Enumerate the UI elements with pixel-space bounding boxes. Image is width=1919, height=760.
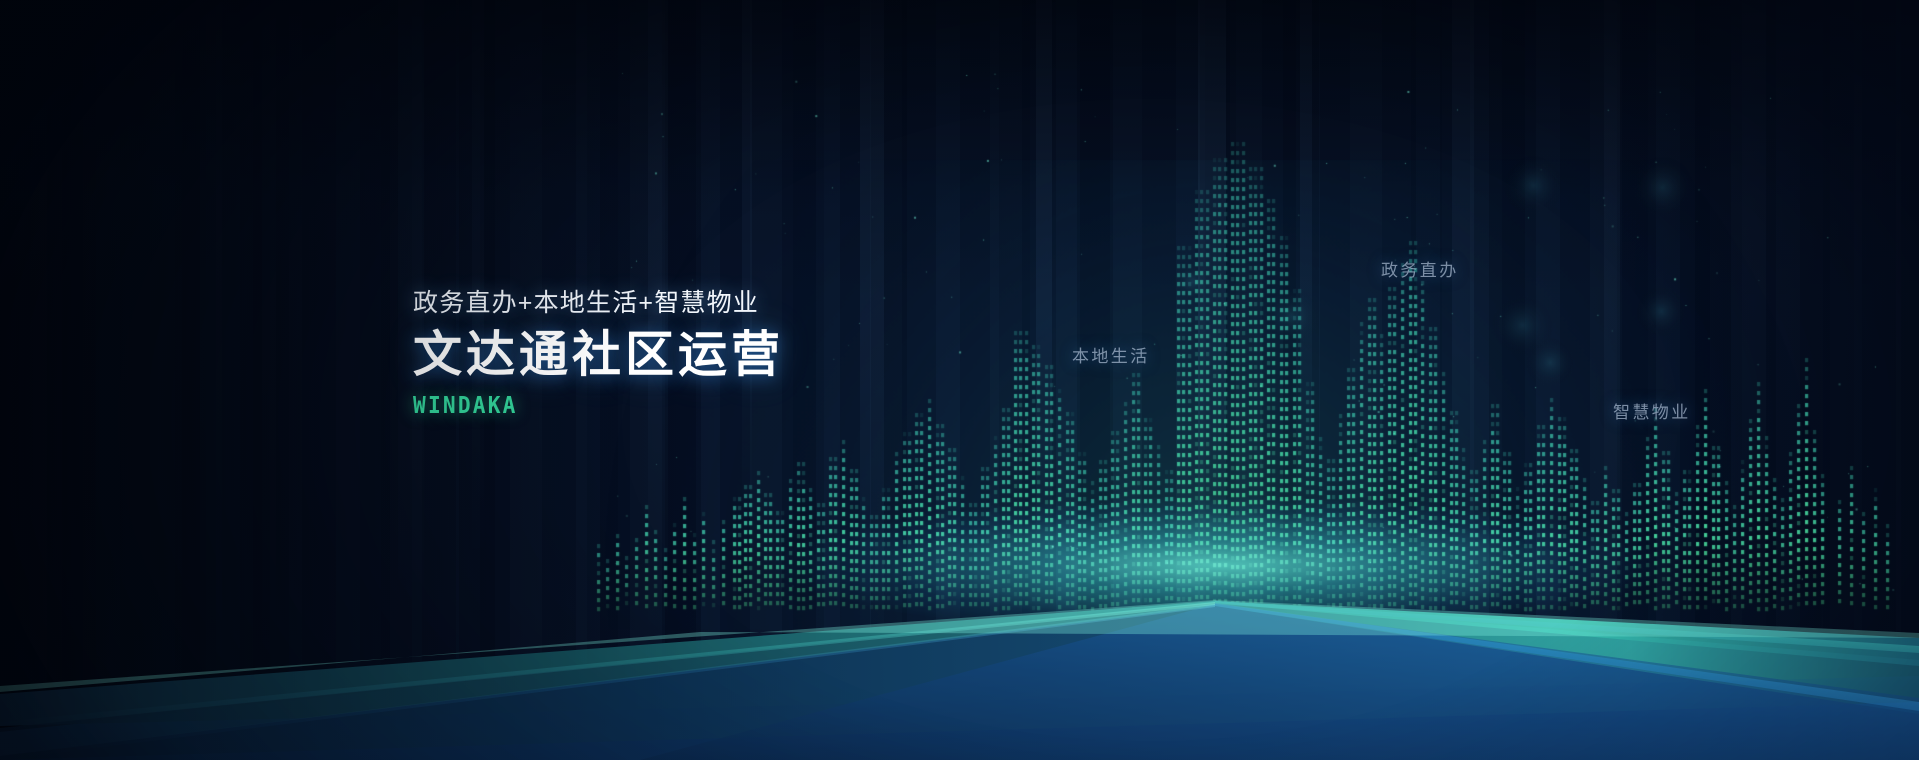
city-label-smart-property: 智慧物业 (1613, 398, 1691, 423)
hero-text-block: 政务直办+本地生活+智慧物业 文达通社区运营 WINDAKA (413, 288, 1113, 419)
hero-title: 文达通社区运营 (413, 327, 1113, 383)
perspective-ground (0, 470, 1919, 760)
hero-banner: 政务直办+本地生活+智慧物业 文达通社区运营 WINDAKA 政务直办 本地生活… (0, 0, 1919, 760)
city-label-local-life: 本地生活 (1072, 342, 1150, 367)
hero-subtitle: 政务直办+本地生活+智慧物业 (413, 288, 1113, 318)
city-label-government: 政务直办 (1381, 256, 1459, 281)
brand-wordmark: WINDAKA (413, 393, 1057, 419)
